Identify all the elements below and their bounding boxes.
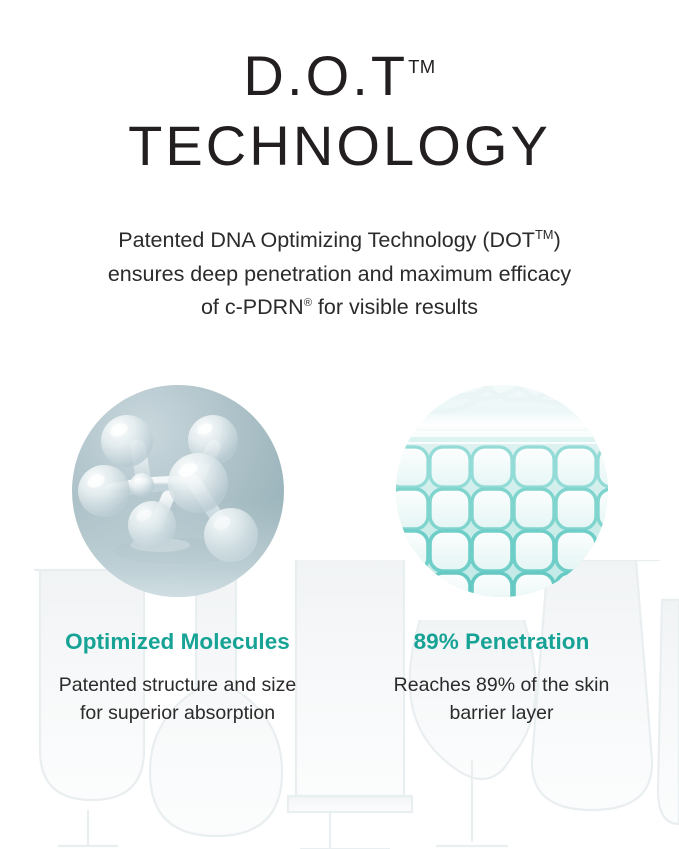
feature-body-optimized-molecules: Patented structure and size for superior… <box>53 671 303 728</box>
title-line-1-text: D.O.T <box>243 44 408 107</box>
page-title: D.O.TTM TECHNOLOGY <box>0 48 679 174</box>
subtitle-line-3-text: of c-PDRN <box>201 295 304 319</box>
dot-technology-infographic: D.O.TTM TECHNOLOGY Patented DNA Optimizi… <box>0 0 679 849</box>
skin-barrier-grid-svg <box>396 385 608 597</box>
feature-heading-optimized-molecules: Optimized Molecules <box>65 629 290 655</box>
feature-body-penetration: Reaches 89% of the skin barrier layer <box>377 671 627 728</box>
subtitle-line-1-text: Patented DNA Optimizing Technology (DOT <box>118 228 535 252</box>
subtitle-paragraph: Patented DNA Optimizing Technology (DOTT… <box>35 224 645 325</box>
title-trademark-icon: TM <box>408 56 435 77</box>
subtitle-line-1: Patented DNA Optimizing Technology (DOTT… <box>35 224 645 258</box>
feature-card-list: Optimized Molecules Patented structure a… <box>0 385 679 728</box>
molecule-svg <box>72 385 284 597</box>
feature-heading-penetration: 89% Penetration <box>414 629 590 655</box>
subtitle-line-3-tail: for visible results <box>312 295 478 319</box>
feature-card-penetration: 89% Penetration Reaches 89% of the skin … <box>340 385 664 728</box>
subtitle-line-3: of c-PDRN® for visible results <box>35 291 645 325</box>
skin-barrier-grid-illustration <box>396 385 608 597</box>
molecule-illustration <box>72 385 284 597</box>
subtitle-line-2: ensures deep penetration and maximum eff… <box>35 258 645 292</box>
dot-trademark-icon: TM <box>535 227 554 242</box>
subtitle-line-1-close: ) <box>554 228 561 252</box>
title-line-2: TECHNOLOGY <box>0 118 679 174</box>
title-line-1: D.O.TTM <box>0 48 679 104</box>
feature-card-optimized-molecules: Optimized Molecules Patented structure a… <box>16 385 340 728</box>
